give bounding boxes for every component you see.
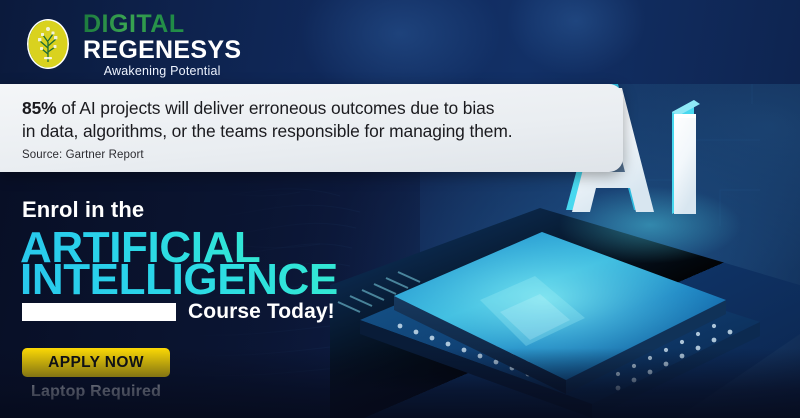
statistic-highlight: 85% [22,98,57,118]
headline-line-2: INTELLIGENCE [20,258,338,302]
statistic-callout-panel: 85% of AI projects will deliver erroneou… [0,84,623,172]
ai-course-promo-banner: DIGITAL REGENESYS Awakening Potential 85… [0,0,800,418]
brand-name-secondary: REGENESYS [83,37,241,63]
course-today-row: Course Today! [22,300,335,324]
bottom-dark-overlay [0,348,800,418]
brand-logo[interactable]: DIGITAL REGENESYS Awakening Potential [22,10,241,78]
brand-name-primary: DIGITAL [83,12,241,37]
statistic-line-1: 85% of AI projects will deliver erroneou… [22,97,583,120]
statistic-source: Source: Gartner Report [22,149,583,161]
statistic-line-1-rest: of AI projects will deliver erroneous ou… [57,98,495,118]
white-accent-bar [22,303,176,321]
headline-kicker: Enrol in the [22,197,144,223]
course-today-text: Course Today! [188,300,335,324]
brand-wordmark: DIGITAL REGENESYS Awakening Potential [83,10,241,78]
statistic-line-2: in data, algorithms, or the teams respon… [22,120,583,143]
tree-circuit-emblem-icon [22,16,74,72]
brand-tagline: Awakening Potential [83,64,241,78]
